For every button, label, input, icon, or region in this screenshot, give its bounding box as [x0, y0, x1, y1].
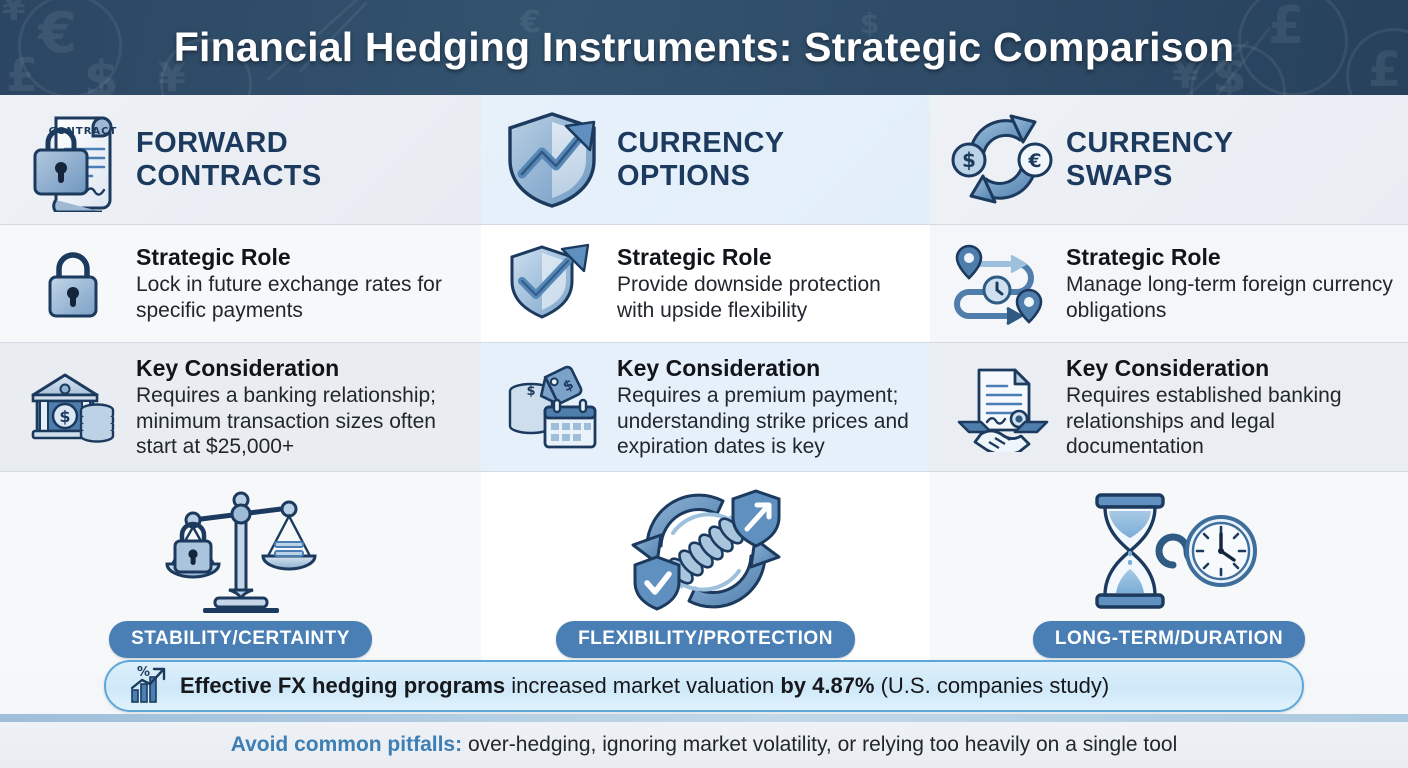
lock-contract-icon: CONTRACT — [14, 108, 132, 212]
svg-text:€: € — [1027, 150, 1041, 172]
column-forward-contracts: CONTRACT FORWARD — [0, 95, 481, 673]
strategic-role-title: Strategic Role — [1066, 245, 1394, 270]
balance-scale-lock-icon — [157, 487, 325, 617]
strategic-role-text: Manage long-term foreign currency obliga… — [1066, 272, 1394, 322]
shield-growth-arrow-icon — [495, 108, 613, 212]
key-consideration-text: Requires established banking relationshi… — [1066, 383, 1394, 459]
key-consideration-text: Requires a banking relationship; minimum… — [136, 383, 467, 459]
strategic-role-cell-forward: Strategic Role Lock in future exchange r… — [0, 225, 481, 343]
svg-text:%: % — [137, 665, 150, 680]
column-title-currency-options: CURRENCY OPTIONS — [613, 127, 785, 193]
key-consideration-title: Key Consideration — [617, 356, 916, 381]
key-consideration-body-forward: Key Consideration Requires a banking rel… — [132, 356, 467, 459]
strategic-role-cell-options: Strategic Role Provide downside protecti… — [481, 225, 930, 343]
page-footer: Avoid common pitfalls: over-hedging, ign… — [0, 722, 1408, 768]
coins-price-tag-calendar-icon: $ $ — [495, 365, 613, 451]
column-title-line1: FORWARD — [136, 127, 322, 160]
column-title-currency-swaps: CURRENCY SWAPS — [1062, 127, 1234, 193]
key-consideration-cell-forward: $ Key Consideration Requires a bankin — [0, 343, 481, 472]
strategic-role-title: Strategic Role — [136, 245, 467, 270]
column-header-forward-contracts: CONTRACT FORWARD — [0, 95, 481, 225]
summary-badge-swaps: LONG-TERM/DURATION — [1033, 621, 1305, 658]
infographic-page: € £ $ ¥ ¥ £ $ ¥ £ € $ Financial Hedging … — [0, 0, 1408, 768]
column-header-currency-swaps: $ € CURRENCY SWAPS — [930, 95, 1408, 225]
summary-cell-options: FLEXIBILITY/PROTECTION — [481, 472, 930, 673]
callout-mid-text: increased market valuation — [505, 673, 780, 698]
column-title-forward-contracts: FORWARD CONTRACTS — [132, 127, 322, 193]
strategic-role-cell-swaps: Strategic Role Manage long-term foreign … — [930, 225, 1408, 343]
svg-text:$: $ — [526, 384, 535, 399]
summary-cell-swaps: LONG-TERM/DURATION — [930, 472, 1408, 673]
strategic-role-text: Lock in future exchange rates for specif… — [136, 272, 467, 322]
callout-bold-lead: Effective FX hedging programs — [180, 673, 505, 698]
callout-tail-text: (U.S. companies study) — [874, 673, 1109, 698]
footer-text: Avoid common pitfalls: over-hedging, ign… — [231, 733, 1178, 757]
callout-bold-stat: by 4.87% — [780, 673, 874, 698]
page-title: Financial Hedging Instruments: Strategic… — [0, 0, 1408, 95]
percent-bar-chart-icon: % — [128, 664, 168, 709]
hourglass-infinity-clock-icon — [1081, 487, 1257, 617]
statistic-callout-banner: % Effective FX hedging programs increase… — [104, 660, 1304, 712]
strategic-role-body-forward: Strategic Role Lock in future exchange r… — [132, 245, 467, 323]
callout-text: Effective FX hedging programs increased … — [180, 675, 1109, 697]
svg-text:$: $ — [59, 407, 70, 426]
summary-cell-forward: STABILITY/CERTAINTY — [0, 472, 481, 673]
dollar-euro-swap-arrows-icon: $ € — [944, 108, 1062, 212]
column-header-currency-options: CURRENCY OPTIONS — [481, 95, 930, 225]
key-consideration-body-options: Key Consideration Requires a premium pay… — [613, 356, 916, 459]
column-title-line2: CONTRACTS — [136, 160, 322, 193]
key-consideration-body-swaps: Key Consideration Requires established b… — [1062, 356, 1394, 459]
column-title-line2: SWAPS — [1066, 160, 1234, 193]
column-title-line1: CURRENCY — [617, 127, 785, 160]
summary-badge-forward: STABILITY/CERTAINTY — [109, 621, 372, 658]
column-title-line1: CURRENCY — [1066, 127, 1234, 160]
key-consideration-cell-swaps: Key Consideration Requires established b… — [930, 343, 1408, 472]
key-consideration-cell-options: $ $ — [481, 343, 930, 472]
footer-divider — [0, 714, 1408, 722]
shield-check-arrow-icon — [495, 241, 613, 327]
footer-body: over-hedging, ignoring market volatility… — [462, 733, 1177, 756]
footer-lead: Avoid common pitfalls: — [231, 733, 462, 756]
key-consideration-title: Key Consideration — [136, 356, 467, 381]
column-currency-swaps: $ € CURRENCY SWAPS — [930, 95, 1408, 673]
comparison-grid: CONTRACT FORWARD — [0, 95, 1408, 673]
strategic-role-body-options: Strategic Role Provide downside protecti… — [613, 245, 916, 323]
key-consideration-text: Requires a premium payment; understandin… — [617, 383, 916, 459]
strategic-role-title: Strategic Role — [617, 245, 916, 270]
summary-badge-options: FLEXIBILITY/PROTECTION — [556, 621, 855, 658]
padlock-icon — [14, 248, 132, 320]
strategic-role-text: Provide downside protection with upside … — [617, 272, 916, 322]
key-consideration-title: Key Consideration — [1066, 356, 1394, 381]
column-title-line2: OPTIONS — [617, 160, 785, 193]
handshake-document-icon — [944, 364, 1062, 452]
bank-coins-icon: $ — [14, 367, 132, 449]
flexible-spring-shields-icon — [617, 487, 795, 617]
route-clock-pins-icon — [944, 242, 1062, 326]
svg-text:$: $ — [962, 148, 976, 172]
column-currency-options: CURRENCY OPTIONS — [481, 95, 930, 673]
page-header: € £ $ ¥ ¥ £ $ ¥ £ € $ Financial Hedging … — [0, 0, 1408, 95]
strategic-role-body-swaps: Strategic Role Manage long-term foreign … — [1062, 245, 1394, 323]
